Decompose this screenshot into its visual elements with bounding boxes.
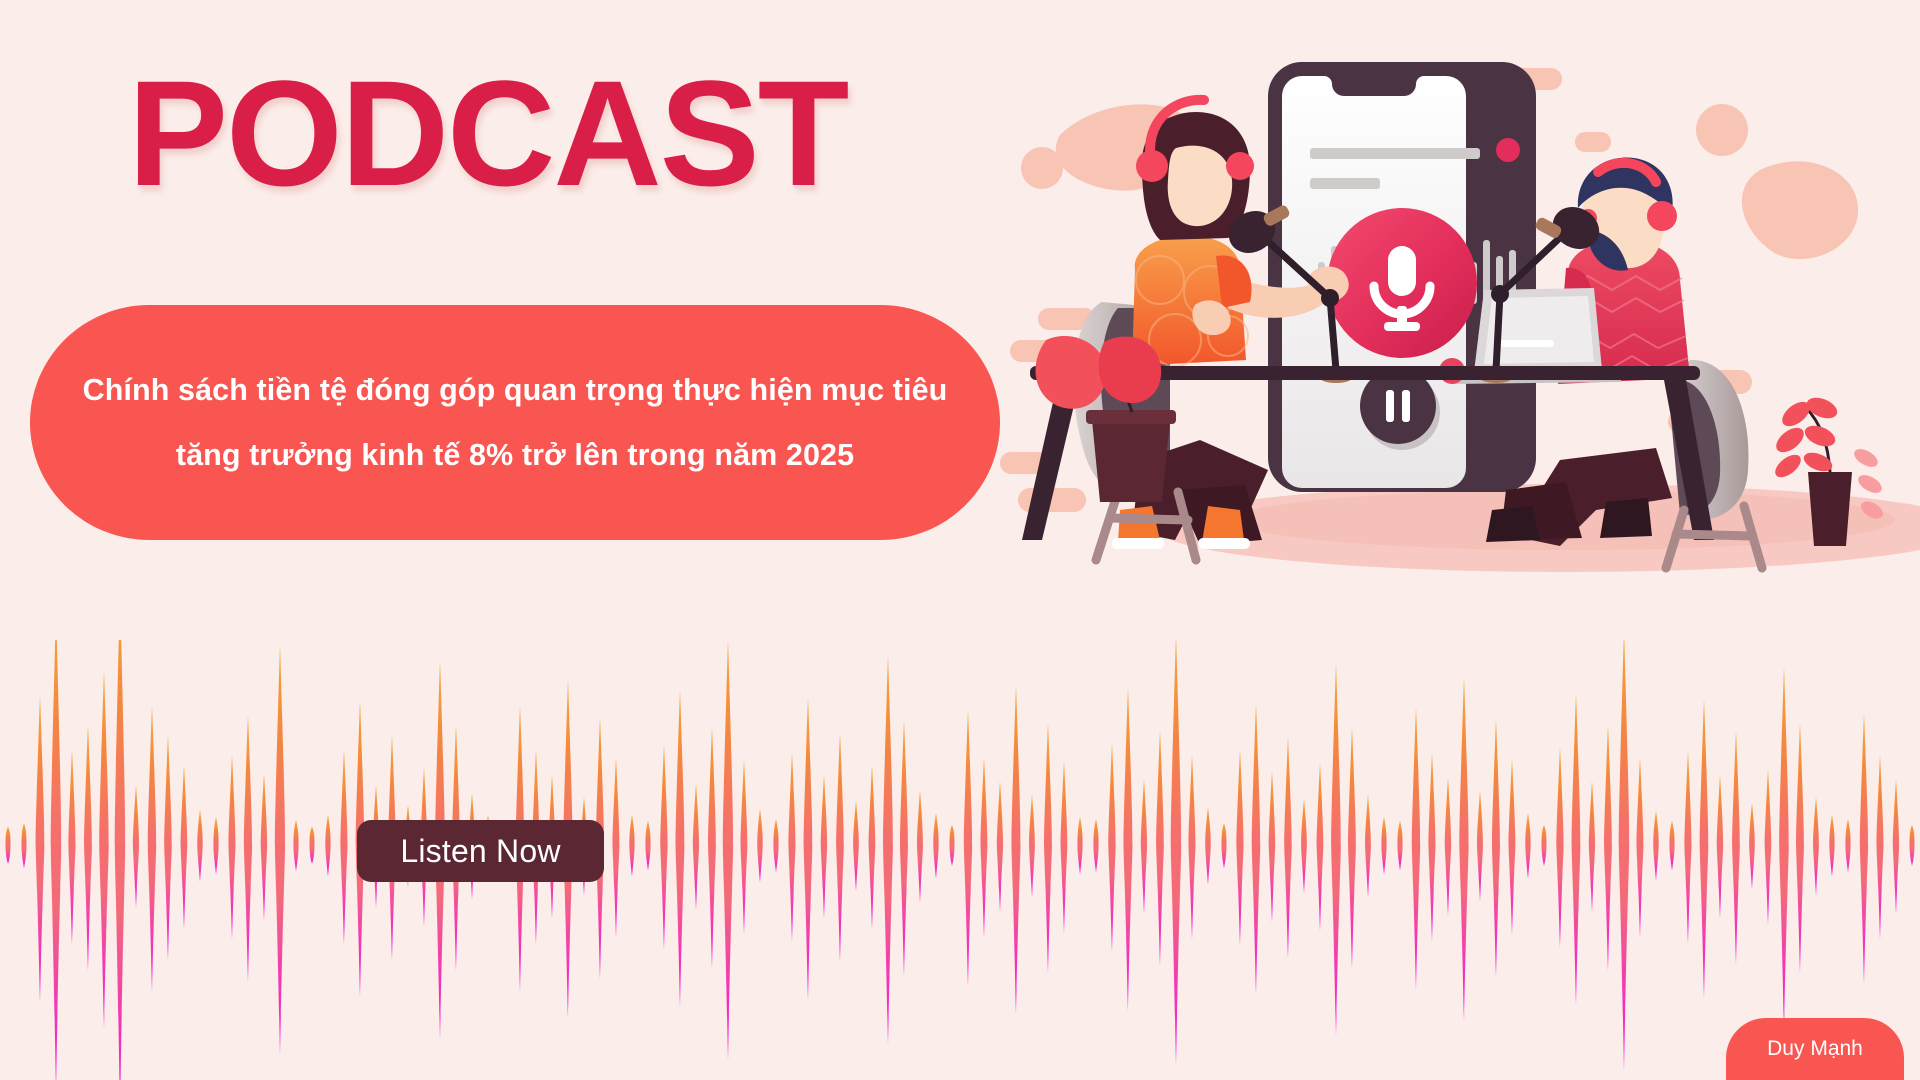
waveform-bar — [1269, 771, 1276, 923]
waveform-bar — [804, 697, 813, 1000]
waveform-bar — [1589, 781, 1595, 912]
waveform-bar — [1205, 807, 1210, 885]
headline-line-2: tăng trưởng kinh tế 8% trở lên trong năm… — [176, 440, 854, 471]
waveform-bar — [660, 745, 667, 950]
waveform-bar — [693, 783, 699, 910]
waveform-bar — [1331, 663, 1341, 1036]
waveform-bar — [340, 750, 347, 945]
waveform-bar — [1637, 757, 1644, 937]
waveform-bar — [148, 705, 156, 992]
waveform-bar — [1749, 803, 1755, 889]
waveform-bar — [1542, 825, 1547, 866]
waveform-bar — [1556, 747, 1563, 948]
waveform-bar — [836, 733, 844, 963]
waveform-bar — [51, 640, 61, 1080]
waveform-bar — [115, 640, 125, 1080]
waveform-bar — [1572, 693, 1581, 1005]
podcast-illustration — [1000, 40, 1920, 660]
waveform-bar — [1252, 703, 1260, 994]
waveform-bar — [1845, 819, 1850, 872]
waveform-bar — [1093, 819, 1098, 872]
waveform-bar — [1893, 779, 1899, 914]
mic-joint-right — [1491, 285, 1509, 303]
woman-shoe-sole-1 — [1112, 538, 1164, 549]
waveform-bar — [1765, 769, 1772, 925]
waveform-bar — [1077, 817, 1082, 874]
waveform-bar — [821, 775, 827, 919]
record-dot — [1496, 138, 1520, 162]
waveform-bar — [788, 753, 795, 942]
waveform-bar — [708, 727, 716, 969]
waveform-bar — [1509, 759, 1516, 935]
waveform-bar — [36, 695, 45, 1003]
waveform-bar — [1012, 685, 1021, 1013]
waveform-bar — [1717, 775, 1723, 919]
waveform-bar — [229, 755, 236, 940]
decorative-blob-small-2 — [1696, 104, 1748, 156]
woman-shoe-2 — [1202, 506, 1244, 542]
waveform-bar — [1365, 795, 1371, 898]
waveform-bar — [1171, 640, 1181, 1066]
waveform-bar — [293, 820, 298, 871]
author-badge[interactable]: Duy Mạnh — [1726, 1018, 1904, 1080]
waveform-bar — [741, 760, 748, 934]
waveform-bar — [917, 790, 923, 903]
decorative-blob-large-2 — [1742, 161, 1858, 259]
waveform-bar — [1910, 825, 1915, 866]
screen-text-line-1 — [1310, 148, 1480, 159]
audio-waveform — [0, 640, 1920, 1080]
waveform-bar — [997, 781, 1003, 912]
waveform-bar — [261, 773, 267, 921]
waveform-bar — [1236, 749, 1243, 946]
listen-now-button[interactable]: Listen Now — [357, 820, 604, 882]
decorative-dash-6 — [1575, 132, 1611, 152]
waveform-bar — [1604, 725, 1612, 971]
waveform-bar — [1301, 799, 1307, 893]
waveform-bar — [1317, 763, 1324, 931]
waveform-bar — [197, 810, 202, 882]
waveform-bar — [164, 735, 172, 961]
waveform-bar — [1877, 755, 1884, 940]
waveform-bar — [133, 785, 139, 908]
waveform-bar — [981, 757, 988, 937]
waveform-bar — [1124, 687, 1133, 1011]
waveform-bar — [1492, 719, 1500, 977]
waveform-bar — [1445, 777, 1451, 916]
waveform-bar — [1813, 797, 1819, 895]
waveform-bar — [6, 827, 11, 864]
man-headphone-cup — [1647, 201, 1677, 231]
man-shoe — [1486, 506, 1540, 542]
waveform-bar — [1684, 751, 1691, 944]
waveform-bar — [1653, 811, 1658, 881]
waveform-bar — [1412, 707, 1420, 990]
waveform-bar — [1428, 753, 1435, 942]
woman-headphone-cup-left — [1136, 150, 1168, 182]
woman-headphone-cup-right — [1226, 152, 1254, 180]
waveform-bar — [1284, 737, 1291, 958]
waveform-bar — [773, 819, 778, 872]
waveform-bar — [1029, 795, 1035, 898]
waveform-bar — [1348, 727, 1356, 969]
waveform-bar — [757, 809, 762, 883]
waveform-bar — [99, 670, 108, 1029]
waveform-bar — [900, 720, 908, 976]
waveform-bar — [1381, 817, 1386, 874]
laptop-key-line — [1500, 340, 1554, 347]
author-badge-label: Duy Mạnh — [1767, 1037, 1863, 1061]
waveform-bar — [1108, 743, 1115, 952]
waveform-bar — [1189, 755, 1196, 940]
waveform-bar — [1141, 779, 1147, 914]
waveform-bar — [1700, 699, 1709, 998]
waveform-bar — [950, 825, 955, 866]
waveform-bar — [723, 640, 733, 1060]
man-shoe-2 — [1600, 498, 1652, 538]
waveform-bar — [645, 821, 650, 870]
waveform-bar — [964, 710, 972, 987]
waveform-bar — [1221, 823, 1226, 868]
waveform-bar — [1669, 821, 1674, 870]
pause-bar-right — [1402, 390, 1410, 422]
waveform-bar — [1061, 761, 1068, 933]
pause-bar-left — [1386, 390, 1394, 422]
waveform-bar — [1779, 667, 1788, 1032]
waveform-bar — [883, 655, 893, 1045]
waveform-bar — [244, 715, 252, 982]
decorative-blob-small — [1021, 147, 1063, 189]
waveform-bar — [1829, 815, 1834, 877]
waveform-bar — [181, 765, 188, 929]
mic-joint-left — [1321, 289, 1339, 307]
waveform-bar — [84, 725, 92, 971]
waveform-bar — [1796, 723, 1804, 973]
headline-line-1: Chính sách tiền tệ đóng góp quan trọng t… — [83, 375, 948, 406]
waveform-bar — [213, 817, 218, 874]
waveform-bar — [1525, 813, 1530, 879]
waveform-bar — [869, 765, 876, 929]
waveform-bar — [1732, 731, 1740, 965]
waveform-bar — [1156, 730, 1164, 966]
waveform-bar — [1044, 723, 1052, 973]
woman-sleeve — [1216, 256, 1252, 308]
page-title: PODCAST — [128, 58, 847, 208]
waveform-bar — [21, 823, 26, 868]
waveform-bar — [853, 801, 859, 891]
waveform-bar — [68, 750, 75, 945]
waveform-bar — [325, 815, 330, 877]
waveform-bar — [933, 813, 938, 879]
waveform-bar — [1860, 713, 1868, 984]
waveform-bar — [310, 827, 315, 864]
waveform-bar — [676, 690, 685, 1008]
waveform-bar — [629, 815, 634, 877]
podcast-banner: PODCAST Chính sách tiền tệ đóng góp quan… — [0, 0, 1920, 1080]
screen-text-line-2 — [1310, 178, 1380, 189]
waveform-bar — [275, 645, 285, 1055]
woman-shoe-sole-2 — [1198, 538, 1250, 549]
waveform-bar — [1397, 821, 1402, 870]
headline-pill: Chính sách tiền tệ đóng góp quan trọng t… — [30, 305, 1000, 540]
waveform-bar — [1619, 640, 1629, 1071]
waveform-bar — [1477, 791, 1483, 902]
waveform-bar — [1459, 677, 1468, 1021]
listen-now-label: Listen Now — [400, 833, 560, 870]
waveform-bar — [613, 757, 620, 937]
